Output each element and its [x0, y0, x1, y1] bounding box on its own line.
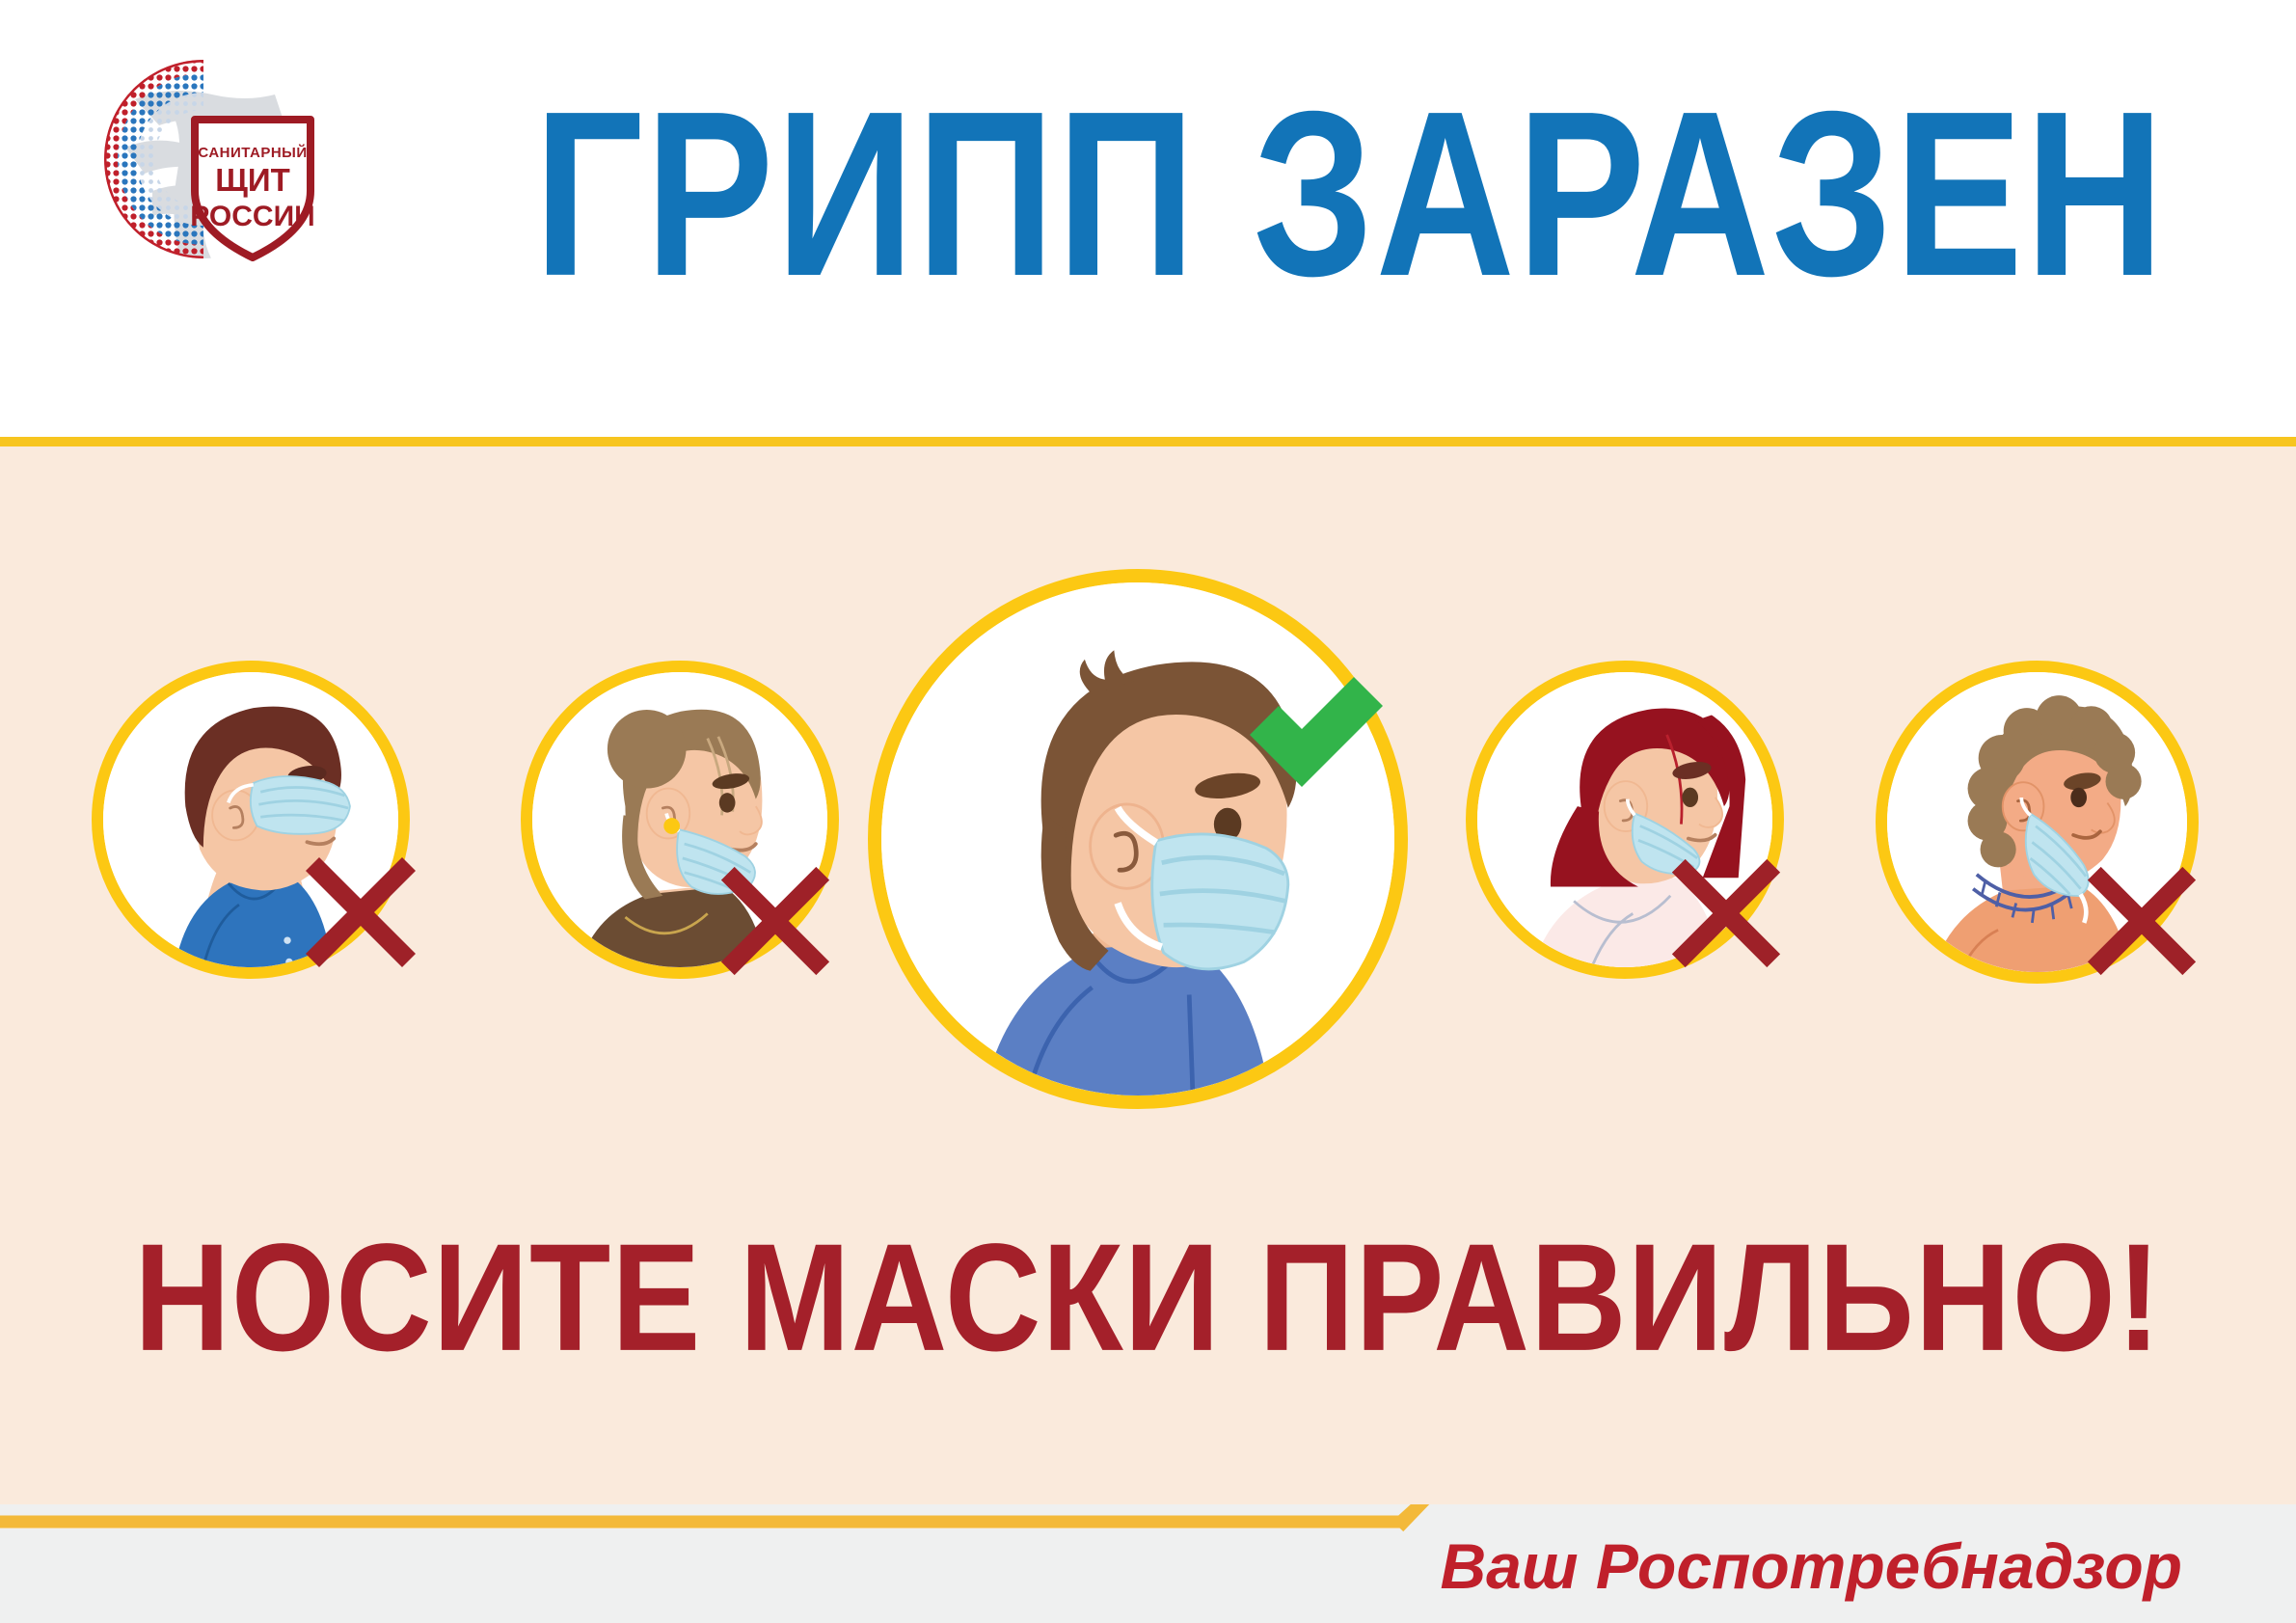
- figure-mask-over-eyes: [92, 661, 419, 988]
- figure-mask-hanging-on-ear: [1466, 661, 1794, 988]
- poster-footer: Ваш Роспотребнадзор: [0, 1504, 2296, 1623]
- logo-line-1: САНИТАРНЫЙ: [198, 144, 307, 161]
- figure-mask-under-chin: [521, 661, 849, 988]
- page-title: ГРИПП ЗАРАЗЕН: [453, 77, 2247, 312]
- face-circle-2: [521, 661, 839, 979]
- poster-header: САНИТАРНЫЙ ЩИТ РОССИИ ГРИПП ЗАРАЗЕН: [0, 0, 2296, 444]
- face-circle-4: [1466, 661, 1784, 979]
- logo-line-2: ЩИТ: [215, 162, 290, 198]
- mask-usage-illustrations: [0, 569, 2296, 1128]
- face-circle-5: [1876, 661, 2199, 984]
- poster-slogan: НОСИТЕ МАСКИ ПРАВИЛЬНО!: [0, 1210, 2296, 1387]
- figure-mask-on-chin-strap: [1876, 661, 2208, 993]
- sanitary-shield-logo: САНИТАРНЫЙ ЩИТ РОССИИ: [77, 56, 330, 263]
- face-circle-3: [868, 569, 1408, 1109]
- face-circle-1: [92, 661, 410, 979]
- figure-mask-correct: [868, 569, 1427, 1128]
- footer-brand-text: Ваш Роспотребнадзор: [1440, 1529, 2182, 1603]
- logo-line-3: РОССИИ: [190, 201, 314, 232]
- header-divider-rule: [0, 437, 2296, 446]
